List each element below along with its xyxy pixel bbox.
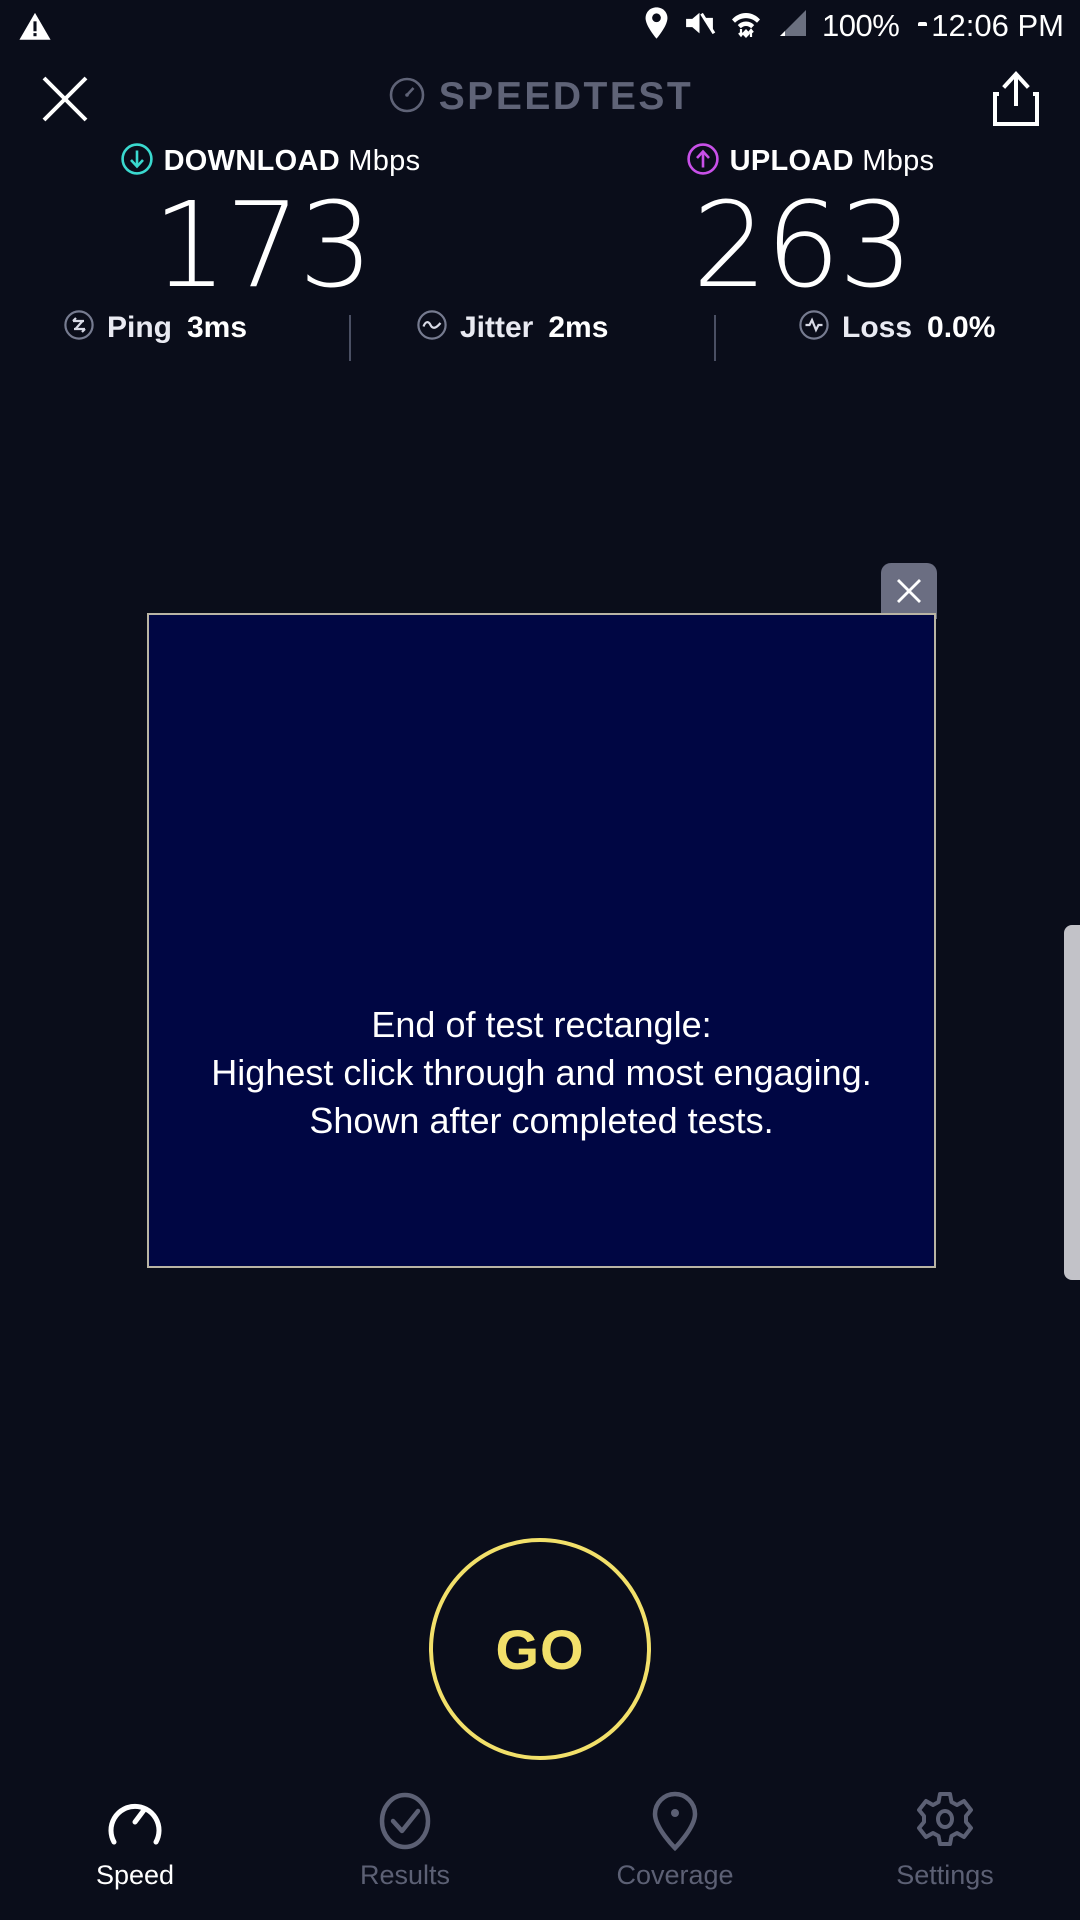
- ad-close-x-icon[interactable]: [881, 563, 937, 619]
- nav-label-results: Results: [360, 1860, 450, 1891]
- status-bar-icons: 100% 12:06 PM: [644, 6, 1064, 45]
- jitter-icon: [415, 308, 449, 347]
- download-value: 173: [0, 186, 532, 304]
- ad-line-2: Highest click through and most engaging.: [149, 1049, 934, 1097]
- ad-line-1: End of test rectangle:: [149, 1001, 934, 1049]
- ping-metric: Ping 3ms: [62, 308, 247, 347]
- ping-value: 3ms: [187, 311, 247, 345]
- download-metric: DOWNLOAD Mbps 173: [0, 140, 540, 304]
- scrollbar-thumb[interactable]: [1064, 925, 1080, 1280]
- advertisement-banner[interactable]: End of test rectangle: Highest click thr…: [147, 613, 936, 1268]
- latency-metrics-row: Ping 3ms Jitter 2ms Loss 0.0: [0, 300, 1080, 362]
- loss-metric: Loss 0.0%: [797, 308, 995, 347]
- jitter-label: Jitter: [460, 311, 533, 345]
- download-label: DOWNLOAD: [164, 145, 340, 177]
- nav-item-coverage[interactable]: Coverage: [540, 1780, 810, 1920]
- jitter-metric: Jitter 2ms: [415, 308, 608, 347]
- app-title-group: SPEEDTEST: [0, 58, 1080, 136]
- upload-arrow-icon: [686, 142, 720, 181]
- ad-message: End of test rectangle: Highest click thr…: [149, 1001, 934, 1145]
- speedometer-icon: [387, 75, 427, 120]
- nav-item-settings[interactable]: Settings: [810, 1780, 1080, 1920]
- location-pin-icon: [644, 6, 669, 45]
- location-pin-icon: [644, 1788, 706, 1854]
- loss-label: Loss: [842, 311, 912, 345]
- jitter-value: 2ms: [548, 311, 608, 345]
- go-button[interactable]: GO: [429, 1538, 651, 1760]
- bottom-navigation-bar: Speed Results Coverage: [0, 1780, 1080, 1920]
- gear-icon: [914, 1788, 976, 1854]
- go-button-label: GO: [495, 1617, 584, 1682]
- wifi-icon: [730, 7, 762, 45]
- speedtest-app-screen: 100% 12:06 PM SPEEDTEST: [0, 0, 1080, 1920]
- metrics-divider-2: [714, 315, 716, 361]
- share-upload-icon[interactable]: [990, 70, 1042, 128]
- nav-label-speed: Speed: [96, 1860, 174, 1891]
- clock-label: 12:06 PM: [931, 8, 1064, 44]
- results-summary: DOWNLOAD Mbps 173 UP: [0, 140, 1080, 304]
- warning-triangle-icon: [18, 10, 52, 49]
- page-title: SPEEDTEST: [439, 75, 693, 119]
- loss-icon: [797, 308, 831, 347]
- ping-label: Ping: [107, 311, 172, 345]
- loss-value: 0.0%: [927, 311, 995, 345]
- nav-item-speed[interactable]: Speed: [0, 1780, 270, 1920]
- ping-icon: [62, 308, 96, 347]
- upload-label: UPLOAD: [730, 145, 854, 177]
- check-circle-icon: [374, 1788, 436, 1854]
- status-bar: 100% 12:06 PM: [0, 0, 1080, 58]
- ad-line-3: Shown after completed tests.: [149, 1097, 934, 1145]
- nav-item-results[interactable]: Results: [270, 1780, 540, 1920]
- nav-label-settings: Settings: [896, 1860, 994, 1891]
- download-arrow-icon: [120, 142, 154, 181]
- cellular-signal-icon: [776, 8, 808, 44]
- upload-metric: UPLOAD Mbps 263: [540, 140, 1080, 304]
- download-unit: Mbps: [348, 145, 420, 177]
- upload-value: 263: [532, 186, 1072, 304]
- speedometer-icon: [104, 1788, 166, 1854]
- battery-percent-label: 100%: [822, 8, 899, 44]
- upload-unit: Mbps: [862, 145, 934, 177]
- app-header: SPEEDTEST: [0, 58, 1080, 136]
- nav-label-coverage: Coverage: [616, 1860, 733, 1891]
- volume-muted-icon: [683, 8, 716, 43]
- metrics-divider-1: [349, 315, 351, 361]
